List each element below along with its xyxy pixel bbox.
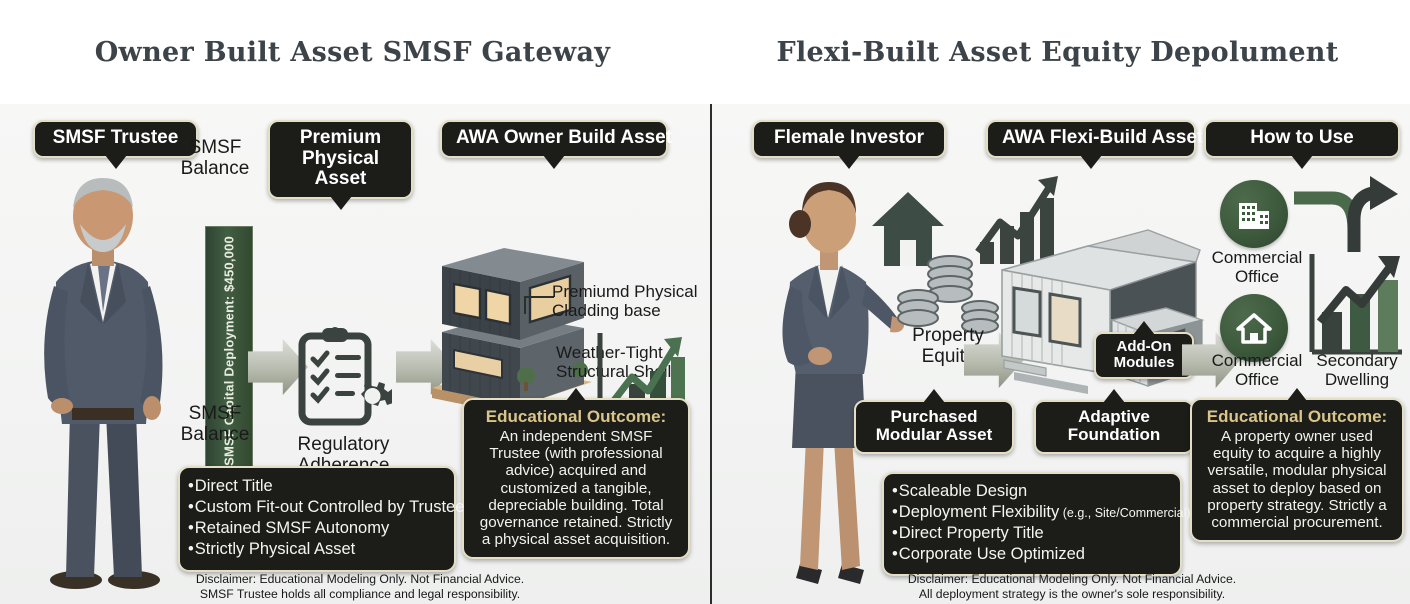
smsf-trustee-figure [18,162,188,592]
list-item: •Corporate Use Optimized [892,544,1172,565]
caption-cladding: Premiumd Physical Cladding base [552,283,702,320]
title-half-right: Flexi-Built Asset Equity Depolument [705,0,1410,104]
pill-how-to-use[interactable]: How to Use [1204,120,1400,158]
regulatory-clipboard-icon [296,326,392,430]
panel-divider [710,104,712,604]
pill-add-on-modules[interactable]: Add-On Modules [1094,332,1194,379]
pill-awa-owner-build-asset[interactable]: AWA Owner Build Asset [440,120,668,158]
pill-purchased-modular-asset[interactable]: Purchased Modular Asset [854,400,1014,454]
right-educational-outcome-box: Educational Outcome: A property owner us… [1190,398,1404,542]
left-bullet-list: •Direct Title •Custom Fit-out Controlled… [188,476,444,560]
left-outcome-heading: Educational Outcome: [474,407,678,427]
right-bullets-box: •Scaleable Design •Deployment Flexibilit… [882,472,1182,576]
left-educational-outcome-box: Educational Outcome: An independent SMSF… [462,398,690,559]
list-item: •Custom Fit-out Controlled by Trustee [188,497,444,518]
list-item: •Direct Property Title [892,523,1172,544]
right-panel: Flemale Investor [712,104,1410,604]
list-item: •Deployment Flexibility (e.g., Site/Comm… [892,502,1172,523]
pill-adaptive-foundation[interactable]: Adaptive Foundation [1034,400,1194,454]
page-title-left: Owner Built Asset SMSF Gateway [95,37,611,68]
title-half-left: Owner Built Asset SMSF Gateway [0,0,705,104]
commercial-office-building-badge [1220,180,1288,248]
leader-cladding-vert [524,296,526,314]
right-outcome-heading: Educational Outcome: [1202,407,1392,427]
pill-flemale-investor[interactable]: Flemale Investor [752,120,946,158]
caption-commercial-office-2: Commercial Office [1208,352,1306,389]
secondary-dwelling-chart-svg [1304,250,1408,366]
list-item: •Direct Title [188,476,444,497]
page-title-right: Flexi-Built Asset Equity Depolument [776,37,1338,68]
caption-secondary-dwelling: Secondary Dwelling [1302,352,1410,389]
panels-container: SMSF Trustee SMSF Balance SMSF Capital D… [0,104,1410,604]
office-building-icon [1235,195,1273,233]
left-panel: SMSF Trustee SMSF Balance SMSF Capital D… [0,104,711,604]
pill-awa-flexi-build-asset[interactable]: AWA Flexi-Build Asset [986,120,1196,158]
pill-premium-physical-asset[interactable]: Premium Physical Asset [268,120,413,199]
list-item: •Scaleable Design [892,481,1172,502]
left-bullets-box: •Direct Title •Custom Fit-out Controlled… [178,466,456,572]
right-disclaimer: Disclaimer: Educational Modeling Only. N… [857,572,1287,603]
right-bullet-list: •Scaleable Design •Deployment Flexibilit… [892,481,1172,565]
left-disclaimer: Disclaimer: Educational Modeling Only. N… [150,572,570,603]
leader-cladding [524,296,554,298]
list-item: •Strictly Physical Asset [188,539,444,560]
caption-smsf-balance-bottom: SMSF Balance [170,404,260,446]
secondary-dwelling-chart [1304,250,1408,366]
caption-smsf-balance-top: SMSF Balance [170,138,260,180]
title-band: Owner Built Asset SMSF Gateway Flexi-Bui… [0,0,1410,104]
left-outcome-body: An independent SMSF Trustee (with profes… [474,428,678,548]
house-icon [1234,309,1274,347]
list-item: •Retained SMSF Autonomy [188,518,444,539]
right-outcome-body: A property owner used equity to acquire … [1202,428,1392,531]
